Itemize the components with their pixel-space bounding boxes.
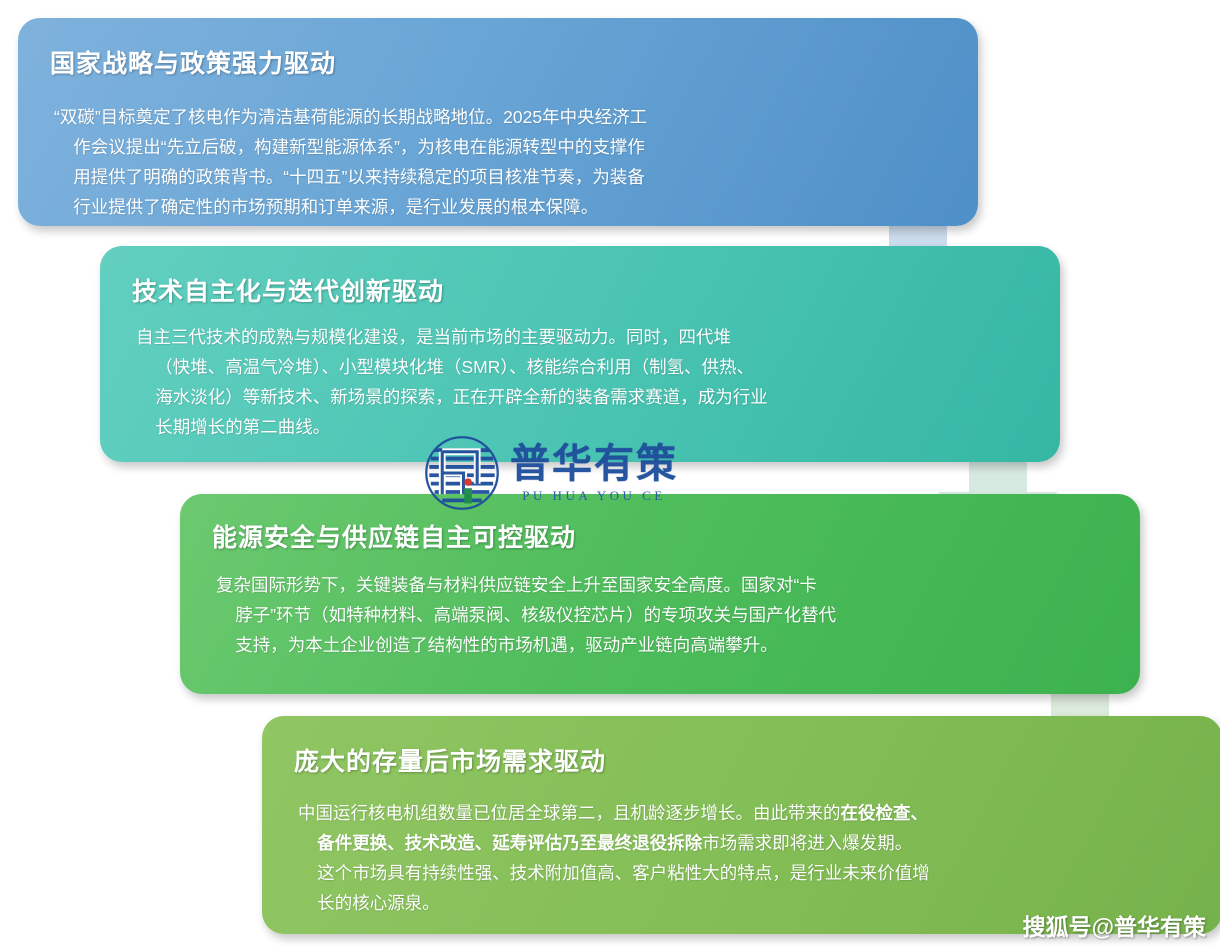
company-emblem-icon: [424, 435, 500, 511]
card-body-emphasis: 备件更换、技术改造、延寿评估乃至最终退役拆除: [317, 833, 702, 853]
card-body-line: “双碳”目标奠定了核电作为清洁基荷能源的长期战略地位。2025年中央经济工: [54, 102, 774, 132]
card-body-text: 中国运行核电机组数量已位居全球第二，且机龄逐步增长。由此带来的: [298, 803, 841, 823]
card-body-line: 中国运行核电机组数量已位居全球第二，且机龄逐步增长。由此带来的在役检查、: [298, 798, 1038, 828]
card-body-line: 自主三代技术的成熟与规模化建设，是当前市场的主要驱动力。同时，四代堆: [136, 322, 946, 352]
card-body: 中国运行核电机组数量已位居全球第二，且机龄逐步增长。由此带来的在役检查、 备件更…: [298, 798, 1038, 918]
card-body-line: 作会议提出“先立后破，构建新型能源体系”，为核电在能源转型中的支撑作: [54, 132, 774, 162]
card-body-line: 长的核心源泉。: [298, 888, 1038, 918]
card-body-line: 行业提供了确定性的市场预期和订单来源，是行业发展的根本保障。: [54, 192, 774, 222]
card-body: 自主三代技术的成熟与规模化建设，是当前市场的主要驱动力。同时，四代堆 （快堆、高…: [136, 322, 946, 442]
card-body-line: 脖子”环节（如特种材料、高端泵阀、核级仪控芯片）的专项攻关与国产化替代: [216, 600, 1046, 630]
watermark-english: PU HUA YOU CE: [510, 489, 678, 502]
watermark-text: 普华有策 PU HUA YOU CE: [510, 444, 678, 502]
card-body-line: （快堆、高温气冷堆）、小型模块化堆（SMR）、核能综合利用（制氢、供热、: [136, 352, 946, 382]
card-body-line: 用提供了明确的政策背书。“十四五”以来持续稳定的项目核准节奏，为装备: [54, 162, 774, 192]
driver-card-aftermarket-demand: 庞大的存量后市场需求驱动 中国运行核电机组数量已位居全球第二，且机龄逐步增长。由…: [262, 716, 1220, 934]
card-body: “双碳”目标奠定了核电作为清洁基荷能源的长期战略地位。2025年中央经济工 作会…: [54, 102, 774, 222]
card-title: 庞大的存量后市场需求驱动: [294, 742, 606, 778]
card-body-line: 支持，为本土企业创造了结构性的市场机遇，驱动产业链向高端攀升。: [216, 630, 1046, 660]
card-body-emphasis: 在役检查、: [841, 803, 929, 823]
card-title: 国家战略与政策强力驱动: [50, 44, 336, 80]
card-body: 复杂国际形势下，关键装备与材料供应链安全上升至国家安全高度。国家对“卡 脖子”环…: [216, 570, 1046, 660]
card-body-line: 复杂国际形势下，关键装备与材料供应链安全上升至国家安全高度。国家对“卡: [216, 570, 1046, 600]
driver-card-tech-autonomy: 技术自主化与迭代创新驱动 自主三代技术的成熟与规模化建设，是当前市场的主要驱动力…: [100, 246, 1060, 462]
card-title: 能源安全与供应链自主可控驱动: [212, 518, 576, 554]
card-body-text: 市场需求即将进入爆发期。: [702, 833, 912, 853]
card-body-line: 这个市场具有持续性强、技术附加值高、客户粘性大的特点，是行业未来价值增: [298, 858, 1038, 888]
card-body-line: 备件更换、技术改造、延寿评估乃至最终退役拆除市场需求即将进入爆发期。: [298, 828, 1038, 858]
driver-card-energy-security: 能源安全与供应链自主可控驱动 复杂国际形势下，关键装备与材料供应链安全上升至国家…: [180, 494, 1140, 694]
watermark-logo: 普华有策 PU HUA YOU CE: [424, 432, 692, 514]
card-title: 技术自主化与迭代创新驱动: [132, 272, 444, 308]
card-body-line: 海水淡化）等新技术、新场景的探索，正在开辟全新的装备需求赛道，成为行业: [136, 382, 946, 412]
attribution-label: 搜狐号@普华有策: [1023, 908, 1206, 942]
driver-card-national-strategy: 国家战略与政策强力驱动 “双碳”目标奠定了核电作为清洁基荷能源的长期战略地位。2…: [18, 18, 978, 226]
watermark-chinese: 普华有策: [510, 444, 678, 484]
infographic-canvas: 国家战略与政策强力驱动 “双碳”目标奠定了核电作为清洁基荷能源的长期战略地位。2…: [0, 0, 1220, 952]
